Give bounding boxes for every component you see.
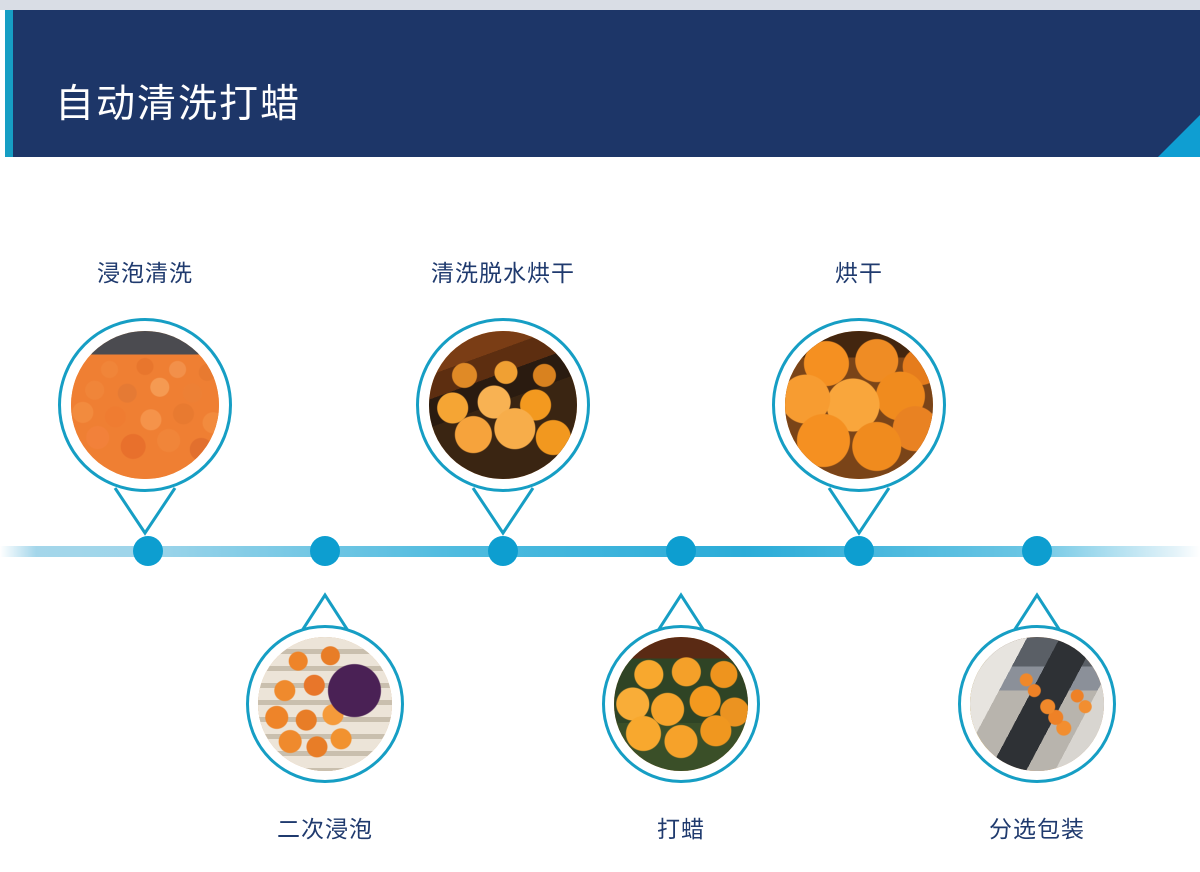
step-image-4: [614, 637, 748, 771]
step-label-4: 打蜡: [521, 814, 841, 844]
step-bubble-4[interactable]: [602, 625, 760, 783]
timeline-dot-4[interactable]: [666, 536, 696, 566]
page-title: 自动清洗打蜡: [55, 82, 301, 128]
step-bubble-5[interactable]: [772, 318, 946, 492]
step-label-5: 烘干: [699, 258, 1019, 288]
step-bubble-3[interactable]: [416, 318, 590, 492]
step-image-2: [258, 637, 392, 771]
timeline-dot-1[interactable]: [133, 536, 163, 566]
step-label-6: 分选包装: [877, 814, 1197, 844]
step-bubble-1[interactable]: [58, 318, 232, 492]
step-pointer-3: [470, 486, 536, 536]
header-corner-triangle-icon: [1158, 115, 1200, 157]
step-label-1: 浸泡清洗: [0, 258, 305, 288]
step-label-2: 二次浸泡: [165, 814, 485, 844]
timeline-rail: [0, 546, 1200, 557]
step-image-5: [785, 331, 933, 479]
step-bubble-6[interactable]: [958, 625, 1116, 783]
timeline-dot-5[interactable]: [844, 536, 874, 566]
timeline-dot-2[interactable]: [310, 536, 340, 566]
header-accent-stripe: [5, 10, 13, 157]
step-bubble-2[interactable]: [246, 625, 404, 783]
step-image-1: [71, 331, 219, 479]
top-gray-band: [0, 0, 1200, 10]
page-header: 自动清洗打蜡: [5, 10, 1200, 157]
step-pointer-5: [826, 486, 892, 536]
timeline-dot-6[interactable]: [1022, 536, 1052, 566]
step-label-3: 清洗脱水烘干: [343, 258, 663, 288]
step-pointer-1: [112, 486, 178, 536]
step-image-3: [429, 331, 577, 479]
step-image-6: [970, 637, 1104, 771]
timeline-dot-3[interactable]: [488, 536, 518, 566]
